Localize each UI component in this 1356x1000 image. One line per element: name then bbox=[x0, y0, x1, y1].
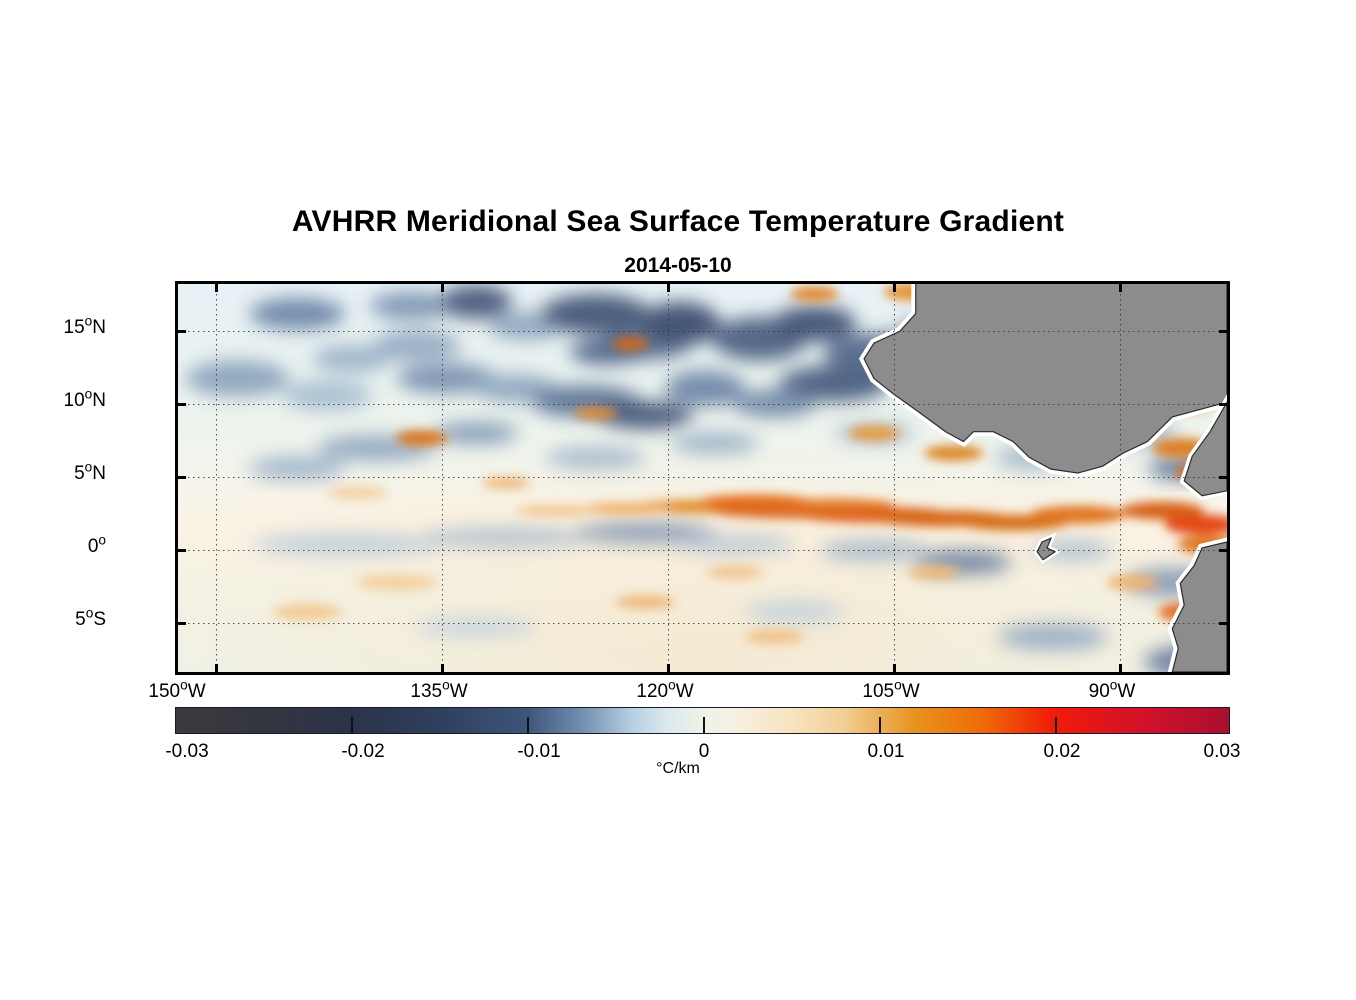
colorbar-tick-neg001 bbox=[527, 717, 529, 733]
colorbar-unit-label: °C/km bbox=[0, 760, 1356, 778]
xtick-label-105w: 105oW bbox=[862, 681, 919, 703]
figure-subtitle: 2014-05-10 bbox=[0, 254, 1356, 278]
colorbar-tick-zero bbox=[703, 717, 705, 733]
map-plot-area[interactable] bbox=[175, 281, 1230, 675]
page-title: AVHRR Meridional Sea Surface Temperature… bbox=[0, 205, 1356, 239]
xtick-label-135w: 135oW bbox=[410, 681, 467, 703]
colorbar-tick-001 bbox=[879, 717, 881, 733]
colorbar-tick-002 bbox=[1055, 717, 1057, 733]
land-mask-layer bbox=[178, 284, 1227, 672]
xtick-label-90w: 90oW bbox=[1089, 681, 1136, 703]
xtick-label-120w: 120oW bbox=[636, 681, 693, 703]
colorbar[interactable] bbox=[175, 707, 1230, 734]
xtick-label-150w: 150oW bbox=[148, 681, 205, 703]
colorbar-tick-neg002 bbox=[351, 717, 353, 733]
